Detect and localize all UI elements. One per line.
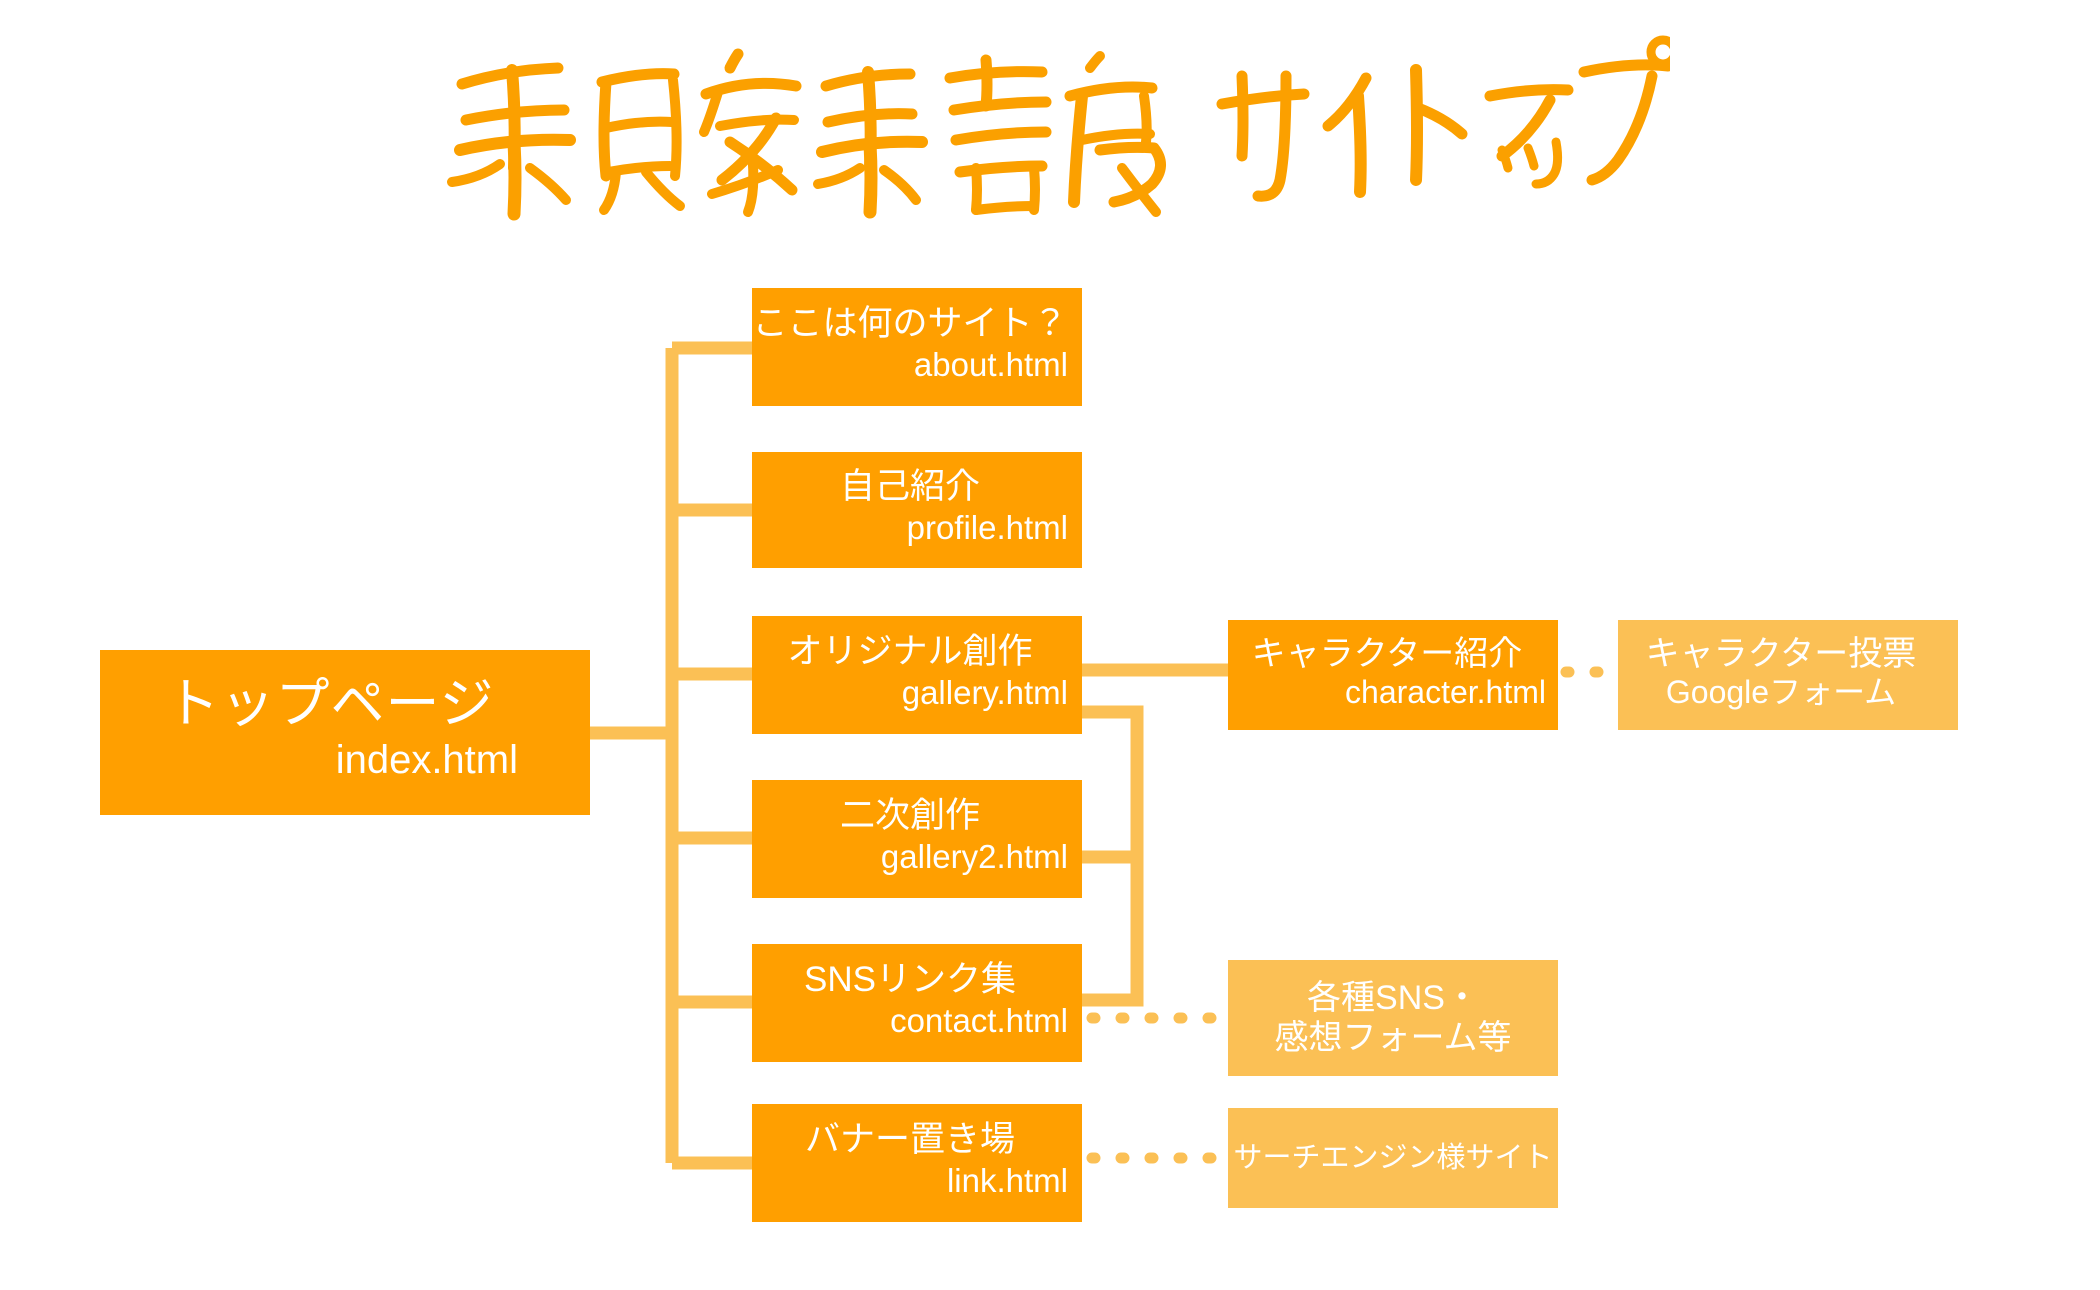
node-gallery2-file: gallery2.html: [752, 839, 1068, 876]
node-contact-file: contact.html: [752, 1003, 1068, 1040]
node-index-title: トップページ: [100, 674, 560, 734]
node-index[interactable]: トップページ index.html: [100, 650, 590, 815]
node-link-title: バナー置き場: [752, 1120, 1068, 1159]
node-vote-file: Googleフォーム: [1618, 675, 1944, 711]
node-about[interactable]: ここは何のサイト？ about.html: [752, 288, 1082, 406]
node-profile-title: 自己紹介: [752, 467, 1068, 506]
node-contact[interactable]: SNSリンク集 contact.html: [752, 944, 1082, 1062]
node-character[interactable]: キャラクター紹介 character.html: [1228, 620, 1558, 730]
node-link[interactable]: バナー置き場 link.html: [752, 1104, 1082, 1222]
node-link-file: link.html: [752, 1163, 1068, 1200]
sitemap-canvas: 果良家果書房 サイトマップ トップページ: [0, 0, 2100, 1290]
node-search[interactable]: サーチエンジン様サイト: [1228, 1108, 1558, 1208]
node-gallery-title: オリジナル創作: [752, 632, 1068, 671]
node-sns-subtitle: 感想フォーム等: [1275, 1019, 1512, 1057]
page-title-artwork: [430, 22, 1670, 222]
node-profile-file: profile.html: [752, 510, 1068, 547]
node-profile[interactable]: 自己紹介 profile.html: [752, 452, 1082, 568]
node-gallery-file: gallery.html: [752, 675, 1068, 712]
node-sns-title: 各種SNS・: [1307, 979, 1479, 1017]
page-title: 果良家果書房 サイトマップ: [430, 22, 1670, 222]
node-vote[interactable]: キャラクター投票 Googleフォーム: [1618, 620, 1958, 730]
node-gallery2[interactable]: 二次創作 gallery2.html: [752, 780, 1082, 898]
node-about-file: about.html: [752, 347, 1068, 384]
node-search-title: サーチエンジン様サイト: [1233, 1142, 1552, 1174]
node-vote-title: キャラクター投票: [1618, 635, 1944, 673]
node-index-file: index.html: [100, 738, 560, 783]
connector-gallery-bracket: [1082, 712, 1137, 1000]
node-gallery2-title: 二次創作: [752, 796, 1068, 835]
node-character-file: character.html: [1228, 675, 1546, 711]
node-contact-title: SNSリンク集: [752, 960, 1068, 999]
node-character-title: キャラクター紹介: [1228, 635, 1546, 673]
node-sns[interactable]: 各種SNS・ 感想フォーム等: [1228, 960, 1558, 1076]
node-gallery[interactable]: オリジナル創作 gallery.html: [752, 616, 1082, 734]
node-about-title: ここは何のサイト？: [752, 304, 1068, 343]
